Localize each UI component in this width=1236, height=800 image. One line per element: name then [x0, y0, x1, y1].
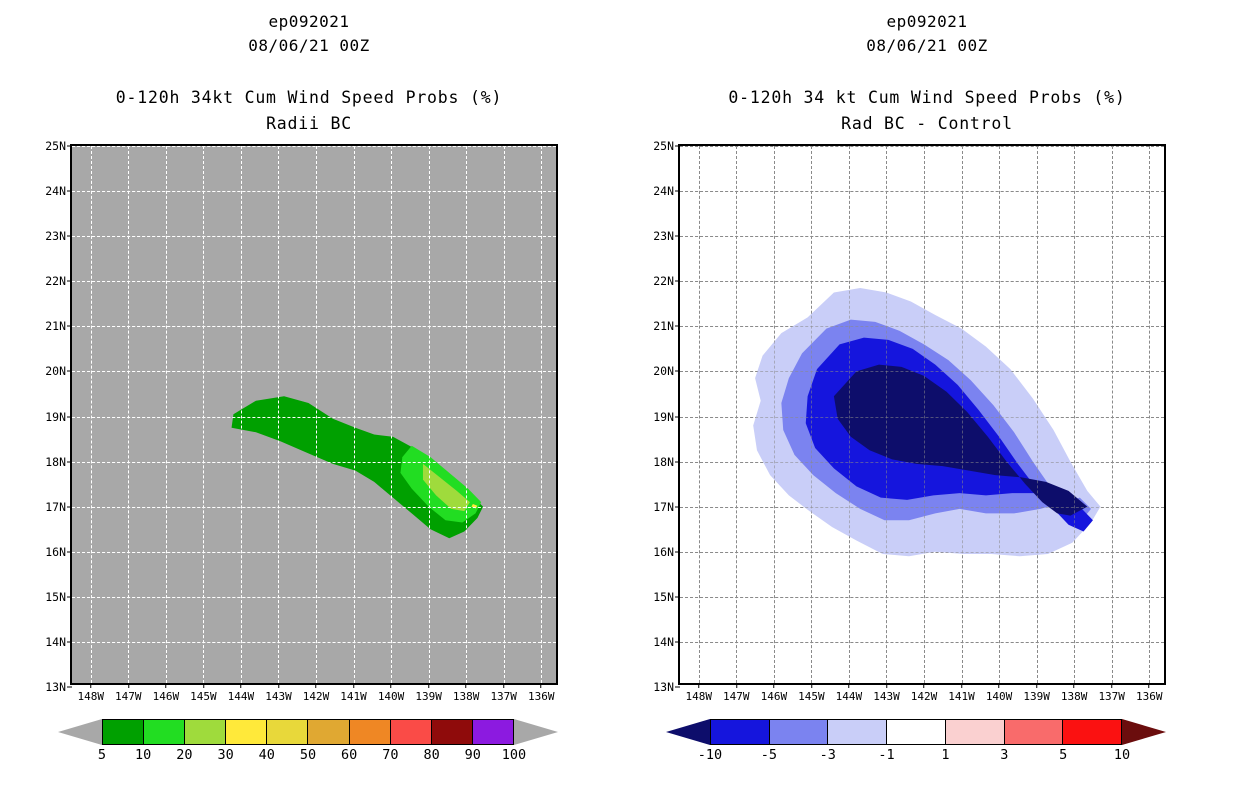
x-axis-tick-label: 136W — [1136, 683, 1163, 703]
colorbar-tick-label: 100 — [502, 747, 526, 763]
y-axis-tick-label: 22N — [653, 274, 680, 288]
y-axis-tick-label: 17N — [653, 500, 680, 514]
x-axis-tick-label: 143W — [873, 683, 900, 703]
gridline-horizontal — [72, 146, 556, 147]
gridline-vertical — [774, 146, 775, 683]
gridline-vertical — [849, 146, 850, 683]
x-axis-tick-label: 141W — [948, 683, 975, 703]
gridline-horizontal — [72, 552, 556, 553]
x-axis-tick-label: 146W — [153, 683, 180, 703]
gridline-vertical — [962, 146, 963, 683]
y-axis-tick-label: 24N — [653, 184, 680, 198]
colorbar-cap-high — [1122, 719, 1166, 745]
colorbar-tick-label: 40 — [259, 747, 275, 763]
y-axis-tick-label: 17N — [45, 500, 72, 514]
x-axis-tick-label: 142W — [303, 683, 330, 703]
colorbar-segments — [102, 719, 514, 745]
left-storm-id: ep092021 — [0, 12, 618, 31]
gridline-vertical — [429, 146, 430, 683]
gridline-vertical — [504, 146, 505, 683]
y-axis-tick-label: 14N — [45, 635, 72, 649]
colorbar-segment — [103, 720, 144, 744]
y-axis-tick-label: 20N — [653, 364, 680, 378]
gridline-vertical — [811, 146, 812, 683]
right-storm-id: ep092021 — [618, 12, 1236, 31]
gridline-vertical — [203, 146, 204, 683]
colorbar-segment — [432, 720, 473, 744]
right-panel: ep092021 08/06/21 00Z 0-120h 34 kt Cum W… — [618, 0, 1236, 800]
left-chart-title: 0-120h 34kt Cum Wind Speed Probs (%) — [0, 88, 618, 107]
x-axis-tick-label: 147W — [115, 683, 142, 703]
gridline-vertical — [466, 146, 467, 683]
gridline-vertical — [91, 146, 92, 683]
gridline-vertical — [241, 146, 242, 683]
colorbar-tick-label: -1 — [878, 747, 894, 763]
y-axis-tick-label: 22N — [45, 274, 72, 288]
gridline-horizontal — [680, 417, 1164, 418]
x-axis-tick-label: 145W — [190, 683, 217, 703]
gridline-horizontal — [680, 462, 1164, 463]
colorbar-segment — [308, 720, 349, 744]
colorbar-segment — [1063, 720, 1121, 744]
x-axis-tick-label: 138W — [1061, 683, 1088, 703]
gridline-vertical — [999, 146, 1000, 683]
y-axis-tick-label: 14N — [653, 635, 680, 649]
gridline-vertical — [736, 146, 737, 683]
colorbar-segment — [770, 720, 829, 744]
x-axis-tick-label: 137W — [490, 683, 517, 703]
right-datetime: 08/06/21 00Z — [618, 36, 1236, 55]
colorbar-segment — [711, 720, 770, 744]
x-axis-tick-label: 138W — [453, 683, 480, 703]
colorbar-segment — [144, 720, 185, 744]
gridline-horizontal — [680, 146, 1164, 147]
gridline-vertical — [278, 146, 279, 683]
gridline-vertical — [924, 146, 925, 683]
x-axis-tick-label: 148W — [78, 683, 105, 703]
colorbar-tick-label: 90 — [465, 747, 481, 763]
x-axis-tick-label: 139W — [415, 683, 442, 703]
colorbar-tick-label: 20 — [176, 747, 192, 763]
colorbar-tick-label: -10 — [698, 747, 722, 763]
y-axis-tick-label: 21N — [653, 319, 680, 333]
gridline-vertical — [316, 146, 317, 683]
left-colorbar: 5102030405060708090100 — [58, 719, 558, 745]
x-axis-tick-label: 148W — [686, 683, 713, 703]
gridline-horizontal — [72, 281, 556, 282]
colorbar-segment — [350, 720, 391, 744]
colorbar-tick-label: 5 — [98, 747, 106, 763]
colorbar-tick-label: -3 — [820, 747, 836, 763]
y-axis-tick-label: 19N — [45, 410, 72, 424]
gridline-horizontal — [680, 191, 1164, 192]
colorbar-tick-label: -5 — [761, 747, 777, 763]
y-axis-tick-label: 15N — [653, 590, 680, 604]
y-axis-tick-label: 16N — [45, 545, 72, 559]
colorbar-tick-label: 70 — [382, 747, 398, 763]
x-axis-tick-label: 145W — [798, 683, 825, 703]
gridline-horizontal — [72, 191, 556, 192]
colorbar-segment — [473, 720, 513, 744]
colorbar-tick-label: 30 — [217, 747, 233, 763]
colorbar-tick-label: 60 — [341, 747, 357, 763]
colorbar-cap-low — [666, 719, 710, 745]
y-axis-tick-label: 23N — [45, 229, 72, 243]
gridline-vertical — [886, 146, 887, 683]
colorbar-segment — [828, 720, 887, 744]
x-axis-tick-label: 146W — [761, 683, 788, 703]
colorbar-tick-label: 5 — [1059, 747, 1067, 763]
gridline-horizontal — [680, 597, 1164, 598]
gridline-horizontal — [680, 642, 1164, 643]
contour-layer — [680, 146, 1164, 683]
gridline-horizontal — [680, 507, 1164, 508]
x-axis-tick-label: 139W — [1023, 683, 1050, 703]
colorbar-segment — [185, 720, 226, 744]
gridline-horizontal — [72, 236, 556, 237]
y-axis-tick-label: 24N — [45, 184, 72, 198]
contour-layer — [72, 146, 556, 683]
gridline-horizontal — [680, 552, 1164, 553]
gridline-vertical — [354, 146, 355, 683]
gridline-vertical — [128, 146, 129, 683]
gridline-horizontal — [72, 417, 556, 418]
x-axis-tick-label: 147W — [723, 683, 750, 703]
colorbar-cap-high — [514, 719, 558, 745]
left-datetime: 08/06/21 00Z — [0, 36, 618, 55]
colorbar-segment — [1005, 720, 1064, 744]
gridline-vertical — [541, 146, 542, 683]
x-axis-tick-label: 141W — [340, 683, 367, 703]
colorbar-segment — [226, 720, 267, 744]
gridline-vertical — [391, 146, 392, 683]
colorbar-tick-label: 10 — [1114, 747, 1130, 763]
x-axis-tick-label: 136W — [528, 683, 555, 703]
y-axis-tick-label: 21N — [45, 319, 72, 333]
y-axis-tick-label: 18N — [653, 455, 680, 469]
right-map-plot: 25N24N23N22N21N20N19N18N17N16N15N14N13N1… — [678, 144, 1166, 685]
gridline-horizontal — [72, 642, 556, 643]
gridline-vertical — [1074, 146, 1075, 683]
y-axis-tick-label: 16N — [653, 545, 680, 559]
colorbar-tick-label: 80 — [423, 747, 439, 763]
x-axis-tick-label: 140W — [986, 683, 1013, 703]
colorbar-tick-label: 10 — [135, 747, 151, 763]
gridline-horizontal — [680, 371, 1164, 372]
y-axis-tick-label: 18N — [45, 455, 72, 469]
x-axis-tick-label: 144W — [836, 683, 863, 703]
x-axis-tick-label: 143W — [265, 683, 292, 703]
y-axis-tick-label: 19N — [653, 410, 680, 424]
y-axis-tick-label: 13N — [653, 680, 680, 694]
gridline-horizontal — [680, 281, 1164, 282]
gridline-horizontal — [72, 326, 556, 327]
left-map-plot: 25N24N23N22N21N20N19N18N17N16N15N14N13N1… — [70, 144, 558, 685]
gridline-horizontal — [72, 507, 556, 508]
x-axis-tick-label: 140W — [378, 683, 405, 703]
right-chart-subtitle: Rad BC - Control — [618, 114, 1236, 133]
colorbar-segment — [391, 720, 432, 744]
gridline-vertical — [699, 146, 700, 683]
gridline-vertical — [1112, 146, 1113, 683]
gridline-horizontal — [72, 462, 556, 463]
gridline-horizontal — [72, 371, 556, 372]
y-axis-tick-label: 13N — [45, 680, 72, 694]
colorbar-cap-low — [58, 719, 102, 745]
colorbar-tick-label: 1 — [941, 747, 949, 763]
colorbar-segments — [710, 719, 1122, 745]
gridline-vertical — [1149, 146, 1150, 683]
gridline-horizontal — [72, 597, 556, 598]
gridline-vertical — [166, 146, 167, 683]
colorbar-segment — [887, 720, 946, 744]
y-axis-tick-label: 25N — [653, 139, 680, 153]
colorbar-tick-label: 3 — [1000, 747, 1008, 763]
colorbar-tick-label: 50 — [300, 747, 316, 763]
left-chart-subtitle: Radii BC — [0, 114, 618, 133]
x-axis-tick-label: 142W — [911, 683, 938, 703]
colorbar-segment — [946, 720, 1005, 744]
gridline-horizontal — [680, 326, 1164, 327]
gridline-vertical — [1037, 146, 1038, 683]
y-axis-tick-label: 25N — [45, 139, 72, 153]
x-axis-tick-label: 144W — [228, 683, 255, 703]
right-chart-title: 0-120h 34 kt Cum Wind Speed Probs (%) — [618, 88, 1236, 107]
gridline-horizontal — [680, 236, 1164, 237]
colorbar-segment — [267, 720, 308, 744]
y-axis-tick-label: 23N — [653, 229, 680, 243]
y-axis-tick-label: 20N — [45, 364, 72, 378]
x-axis-tick-label: 137W — [1098, 683, 1125, 703]
right-colorbar: -10-5-3-113510 — [666, 719, 1166, 745]
left-panel: ep092021 08/06/21 00Z 0-120h 34kt Cum Wi… — [0, 0, 618, 800]
y-axis-tick-label: 15N — [45, 590, 72, 604]
